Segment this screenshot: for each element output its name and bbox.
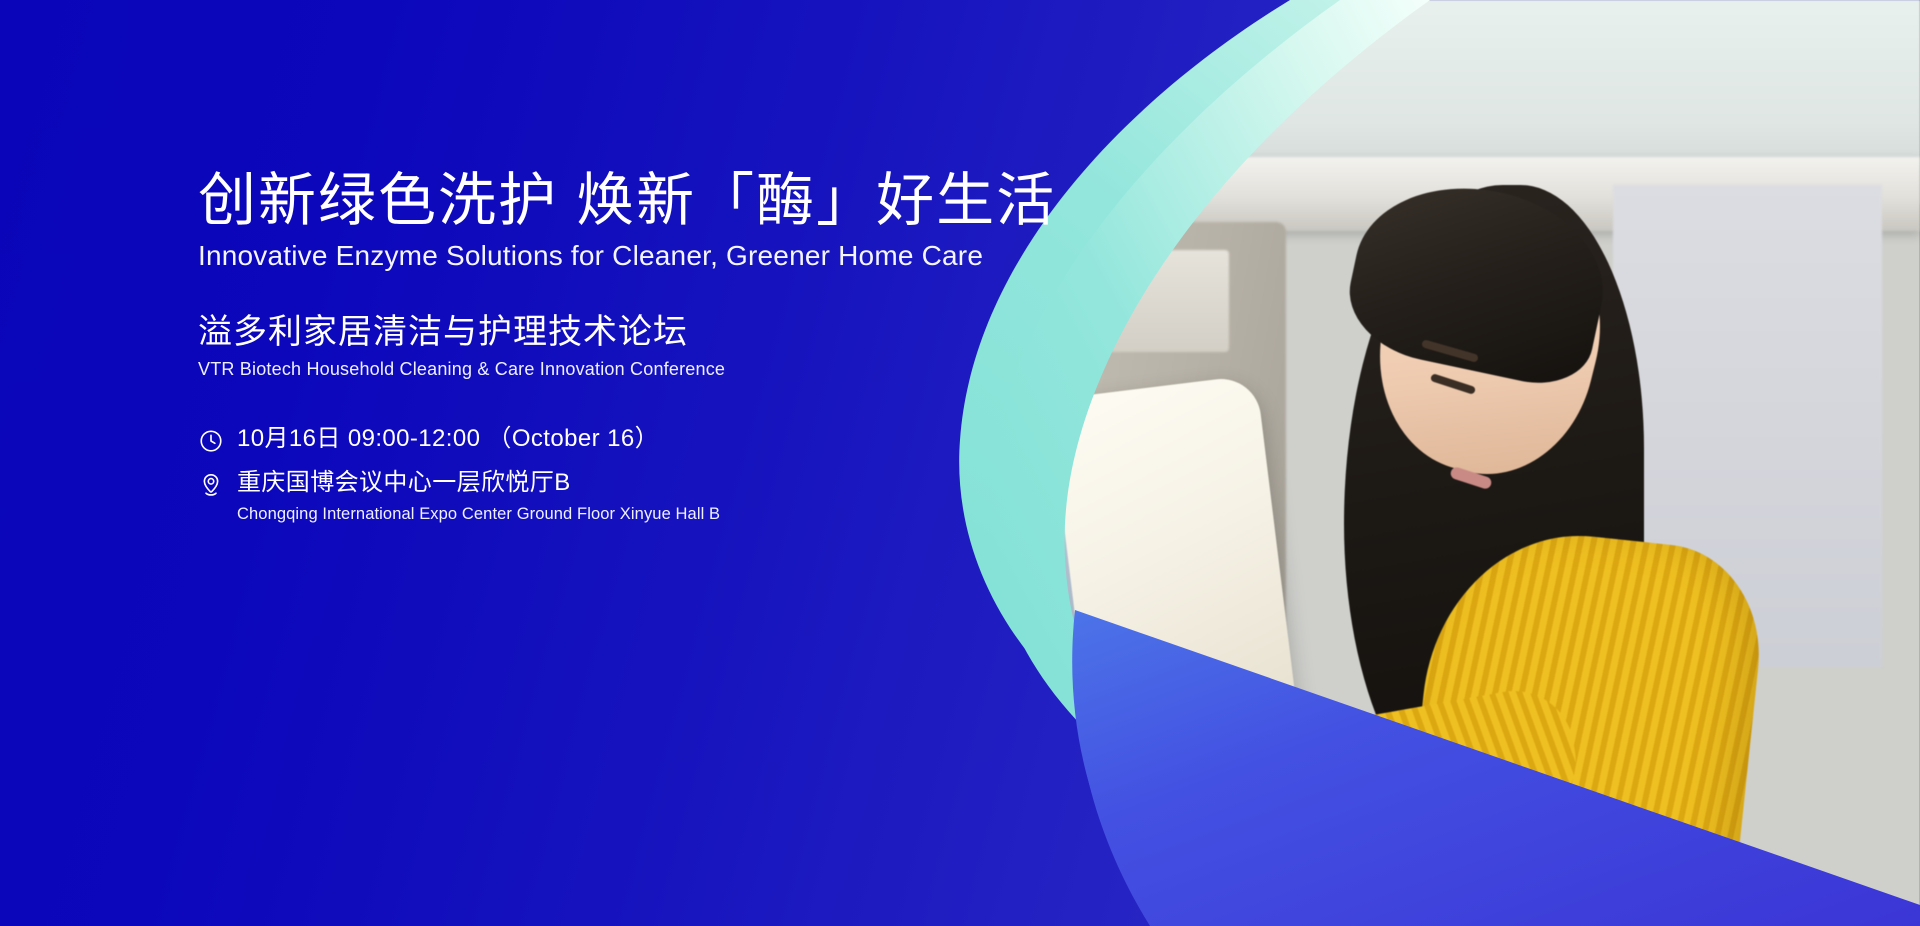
event-location-texts: 重庆国博会议中心一层欣悦厅B Chongqing International E…: [237, 468, 720, 525]
event-details: 10月16日 09:00-12:00 （October 16） 重庆国博会议中心…: [198, 424, 1058, 525]
machine-drum: [442, 528, 638, 724]
event-location-english: Chongqing International Expo Center Grou…: [237, 504, 720, 525]
event-subtitle-english: VTR Biotech Household Cleaning & Care In…: [198, 359, 1058, 380]
event-subtitle: 溢多利家居清洁与护理技术论坛: [198, 313, 1058, 352]
banner-text-block: 创新绿色洗护 焕新「酶」好生活 Innovative Enzyme Soluti…: [198, 170, 1058, 540]
event-datetime: 10月16日 09:00-12:00 （October 16）: [237, 424, 659, 454]
machine-glass-door: [0, 482, 204, 744]
event-datetime-row: 10月16日 09:00-12:00 （October 16）: [198, 424, 1058, 454]
towel-fringe: [1053, 737, 1269, 822]
clock-icon: [198, 428, 224, 454]
event-location-row: 重庆国博会议中心一层欣悦厅B Chongqing International E…: [198, 468, 1058, 525]
page-title-english: Innovative Enzyme Solutions for Cleaner,…: [198, 239, 1058, 273]
event-location: 重庆国博会议中心一层欣悦厅B: [237, 468, 720, 498]
event-banner: 创新绿色洗护 焕新「酶」好生活 Innovative Enzyme Soluti…: [0, 0, 1920, 926]
page-title: 创新绿色洗护 焕新「酶」好生活: [198, 170, 1058, 231]
location-pin-icon: [198, 472, 224, 498]
